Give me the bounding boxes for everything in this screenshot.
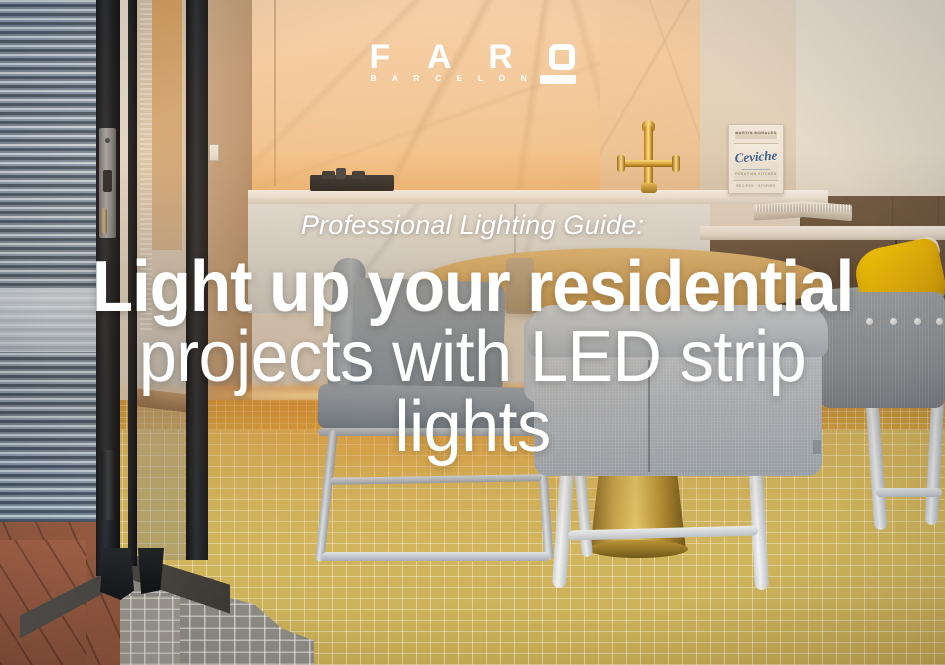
center-chair-label-tag [813, 440, 821, 454]
left-chair-seat [318, 384, 547, 432]
logo-tagline: B A R C E L O N A [371, 73, 555, 83]
left-chair-rail [318, 428, 550, 436]
faro-o-mark-icon [549, 44, 575, 70]
book-footer-label: RECIPES · STORIES [735, 184, 777, 188]
wall-switch [209, 144, 219, 161]
counter-top-right [700, 226, 945, 240]
book-subtitle-label: PERUVIAN KITCHEN [729, 172, 783, 176]
logo-inner: F A R B A R C E L O N A [370, 40, 576, 92]
hob-burner [322, 171, 335, 179]
background-photograph: MARTIN MORALES Ceviche PERUVIAN KITCHEN … [0, 0, 945, 665]
faro-bar-mark-icon [540, 75, 576, 84]
logo-letter-f: F [370, 40, 391, 74]
door-glass-warm-reflection [152, 0, 182, 250]
logo-letter-a: A [427, 40, 452, 74]
book-rule [742, 169, 770, 170]
center-chair-seam [648, 360, 650, 472]
faucet-handle [617, 155, 625, 172]
faucet-base [641, 183, 657, 193]
door-pivot-hinge [100, 548, 134, 600]
door-pivot-hinge [138, 548, 164, 596]
left-chair-sled-base [322, 552, 550, 561]
center-chair-backrest [528, 305, 828, 357]
faucet-handle [672, 155, 680, 172]
center-chair-body [534, 348, 822, 476]
upholstery-stud [890, 318, 897, 325]
door-latch-bolt [101, 208, 107, 234]
logo-letter-r: R [488, 40, 513, 74]
door-hardware [101, 450, 115, 520]
right-chair-stretcher [876, 488, 942, 497]
table-foot [588, 540, 688, 558]
faro-barcelona-logo[interactable]: F A R B A R C E L O N A [0, 40, 945, 92]
faucet-cross-arm [620, 160, 678, 167]
hob-knob [336, 168, 346, 179]
upholstery-stud [936, 318, 943, 325]
lock-screw [105, 138, 110, 143]
logo-wordmark: F A R [370, 40, 576, 74]
shutter-light-band [0, 290, 98, 358]
right-chair-studs [866, 318, 944, 325]
open-book-pages [756, 204, 852, 212]
right-chair-body [820, 292, 945, 408]
book-author-label: MARTIN MORALES [729, 131, 783, 135]
standing-book: MARTIN MORALES Ceviche PERUVIAN KITCHEN … [728, 124, 784, 194]
louvered-shutter-lower [0, 352, 98, 522]
background-object [506, 258, 534, 314]
left-chair-back-panel [350, 277, 506, 400]
hero-banner: MARTIN MORALES Ceviche PERUVIAN KITCHEN … [0, 0, 945, 665]
lock-keep [103, 170, 112, 192]
upholstery-stud [866, 318, 873, 325]
hob-burner [352, 171, 365, 179]
upholstery-stud [914, 318, 921, 325]
